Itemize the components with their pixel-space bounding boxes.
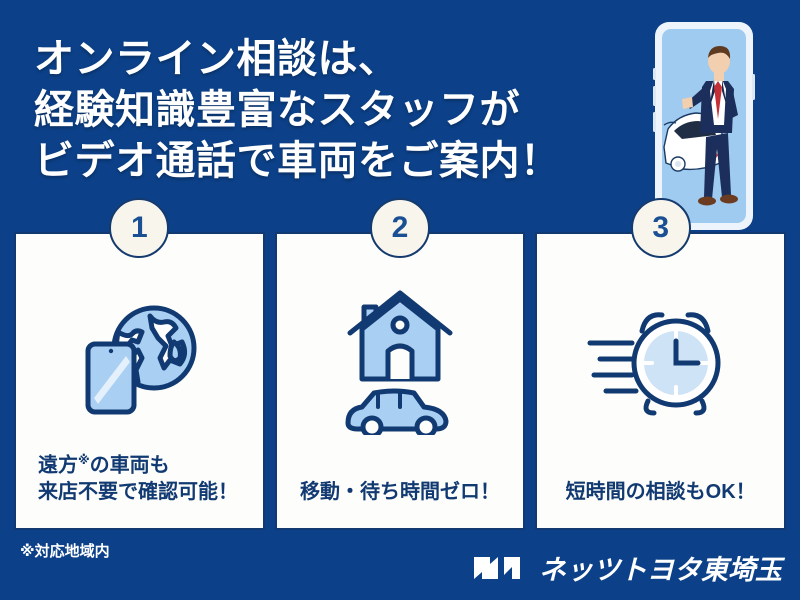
netz-n-mark-icon [472, 553, 526, 583]
feature-panel-1: 1 遠方※の車両も 来店不要で確認可能！ [14, 232, 265, 530]
phone-side-button [653, 68, 656, 80]
headline-line-2: 経験知識豊富なスタッフが [34, 85, 654, 136]
panel-caption-1: 遠方※の車両も 来店不要で確認可能！ [38, 452, 251, 506]
panel-caption-3: 短時間の相談もOK！ [549, 479, 772, 506]
panel-caption-1-mark: ※ [78, 453, 90, 467]
panel-caption-2: 移動・待ち時間ゼロ！ [289, 479, 512, 506]
panel-badge-1: 1 [109, 198, 169, 258]
promo-banner: オンライン相談は、 経験知識豊富なスタッフが ビデオ通話で車両をご案内！ [0, 0, 800, 600]
headline: オンライン相談は、 経験知識豊富なスタッフが ビデオ通話で車両をご案内！ [34, 34, 654, 186]
headline-line-1: オンライン相談は、 [34, 34, 654, 85]
phone-power-button [752, 74, 755, 100]
panel-caption-1-part-a: 遠方 [38, 454, 78, 476]
feature-panel-2: 2 [275, 232, 526, 530]
brand-logo: ネッツトヨタ東埼玉 [472, 548, 782, 587]
headline-line-3: ビデオ通話で車両をご案内！ [34, 136, 654, 187]
phone-screen [662, 29, 746, 223]
alarm-clock-speed-icon [537, 280, 784, 440]
feature-panel-group: 1 遠方※の車両も 来店不要で確認可能！ [14, 232, 786, 530]
phone-volume-up-button [653, 86, 656, 106]
salesman-with-car-illustration [662, 29, 746, 223]
panel-badge-2: 2 [370, 198, 430, 258]
globe-smartphone-icon [16, 280, 263, 440]
panel-caption-1-line-2: 来店不要で確認可能！ [38, 481, 238, 503]
house-and-car-icon [277, 280, 524, 440]
phone-volume-down-button [653, 112, 656, 132]
footnote: ※対応地域内 [20, 540, 110, 561]
logo-text: ネッツトヨタ東埼玉 [539, 548, 782, 587]
feature-panel-3: 3 [535, 232, 786, 530]
panel-caption-1-part-b: の車両も [90, 454, 170, 476]
panel-badge-3: 3 [631, 198, 691, 258]
